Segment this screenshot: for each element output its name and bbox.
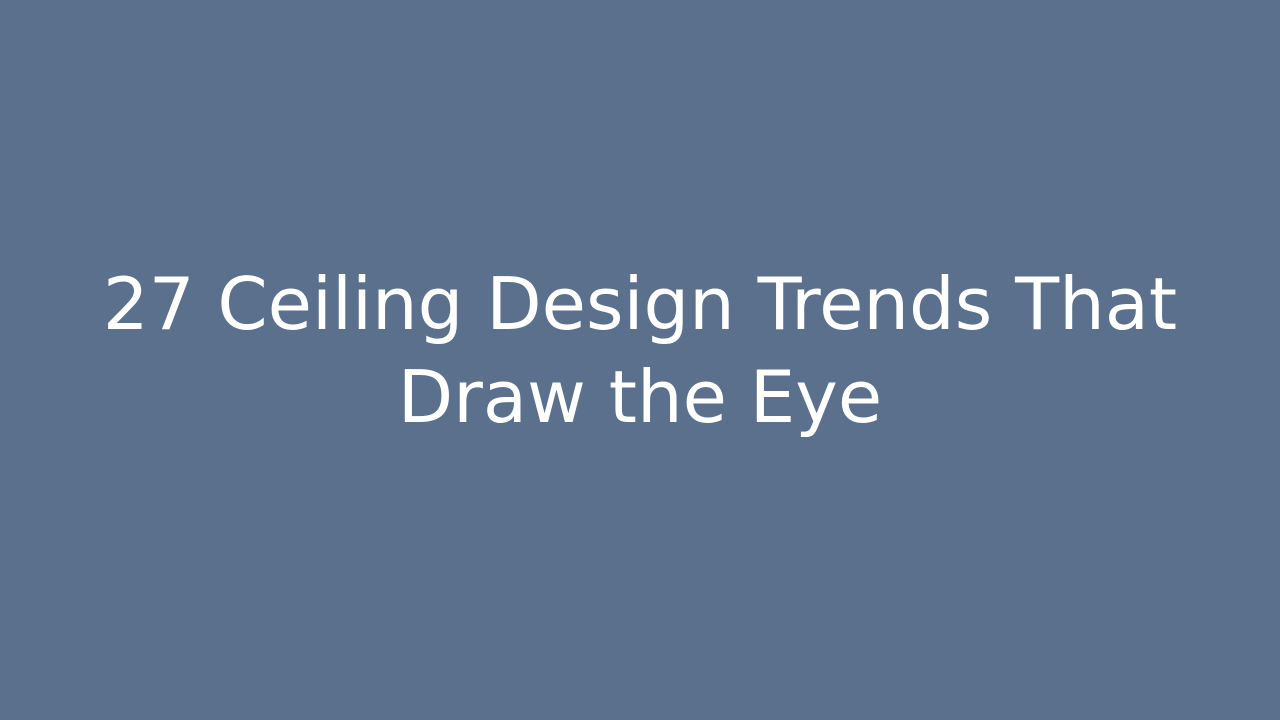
title-card: 27 Ceiling Design Trends That Draw the E… [0,0,1280,720]
title-block: 27 Ceiling Design Trends That Draw the E… [100,258,1180,444]
page-title: 27 Ceiling Design Trends That Draw the E… [100,258,1180,444]
